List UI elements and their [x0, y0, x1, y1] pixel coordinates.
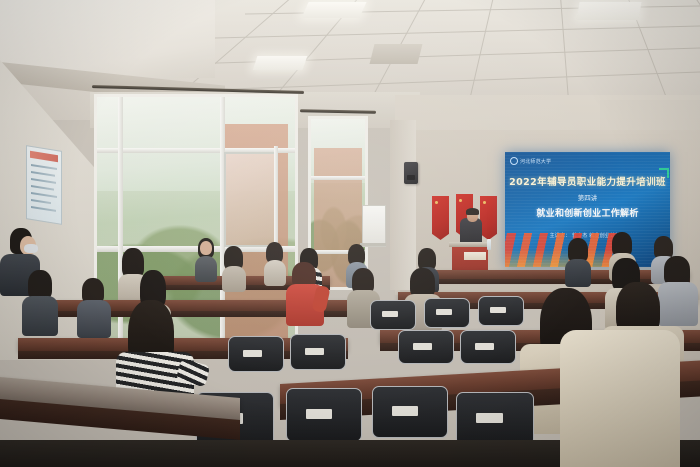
- slide-subtitle: 第四讲: [505, 192, 670, 202]
- water-bottle: [487, 239, 491, 250]
- chair[interactable]: [460, 330, 516, 364]
- logo-text: 河北师范大学: [520, 158, 551, 165]
- slide-title: 2022年辅导员职业能力提升培训班: [505, 174, 670, 188]
- slide-ribbon-glow: [505, 249, 623, 267]
- flag: [480, 196, 497, 240]
- poster-header: [30, 151, 58, 162]
- chair[interactable]: [424, 298, 470, 328]
- chair[interactable]: [228, 336, 284, 372]
- logo-ring-icon: [510, 157, 518, 165]
- curtain-left[interactable]: [74, 86, 100, 282]
- wall-speaker-icon: [404, 162, 418, 184]
- slide-ribbon-graphic: [505, 233, 624, 267]
- ceiling-light-panel: [253, 56, 308, 70]
- whiteboard: [362, 205, 386, 247]
- wall-corner: [390, 120, 416, 290]
- university-logo: 河北师范大学: [510, 157, 551, 165]
- ceiling-light-panel: [576, 2, 641, 20]
- chair[interactable]: [398, 330, 454, 364]
- classroom-photo: 河北师范大学 2022年辅导员职业能力提升培训班 第四讲 就业和创新创业工作解析…: [0, 0, 700, 467]
- chair[interactable]: [290, 334, 346, 370]
- face-mask: [24, 244, 38, 253]
- podium-sign: [464, 252, 486, 260]
- ceiling-vent: [370, 44, 423, 64]
- chair[interactable]: [370, 300, 416, 330]
- whiteboard-tray: [360, 243, 386, 246]
- screen-corner-marker-icon: [659, 168, 669, 178]
- ceiling-light-panel: [301, 2, 366, 18]
- chair[interactable]: [478, 296, 524, 326]
- slide-topic: 就业和创新创业工作解析: [505, 206, 670, 219]
- chair[interactable]: [456, 392, 534, 446]
- chair[interactable]: [372, 386, 448, 438]
- chair[interactable]: [286, 388, 362, 442]
- presenter-hair: [466, 208, 479, 215]
- wall-poster: [26, 145, 62, 225]
- flag: [432, 196, 449, 240]
- slide-presenter: 主讲人： 曾令杰 就业创业处处长: [505, 232, 670, 239]
- podium-top: [449, 242, 491, 247]
